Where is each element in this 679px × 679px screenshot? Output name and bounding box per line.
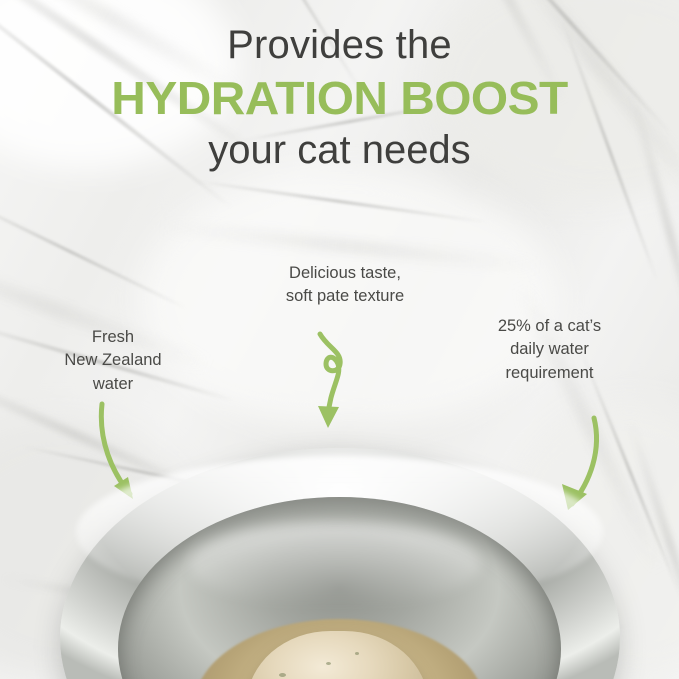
headline: Provides the HYDRATION BOOST your cat ne… [0, 24, 679, 172]
headline-line-1: Provides the [0, 24, 679, 66]
bowl-rim [60, 448, 620, 679]
marketing-image: Provides the HYDRATION BOOST your cat ne… [0, 0, 679, 679]
headline-line-3: your cat needs [0, 129, 679, 171]
food-bowl [60, 448, 620, 679]
callout-taste-texture-text: Delicious taste, soft pate texture [245, 262, 445, 309]
callout-fresh-water-text: Fresh New Zealand water [28, 326, 198, 396]
callout-hydration-percent-text: 25% of a cat’s daily water requirement [462, 315, 637, 385]
bowl-interior-shine [189, 522, 481, 607]
headline-line-2-accent: HYDRATION BOOST [0, 74, 679, 123]
